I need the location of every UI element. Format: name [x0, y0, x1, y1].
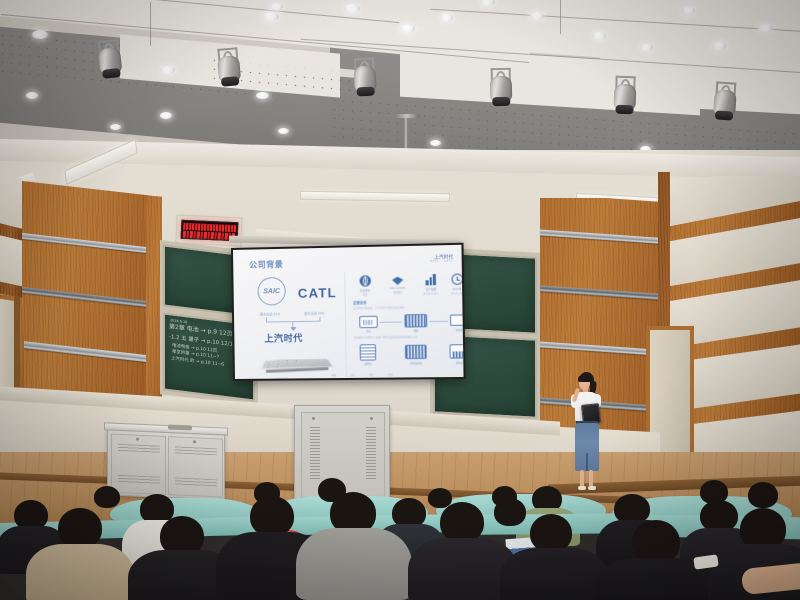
flow-step-label: 系统集成柜 — [404, 361, 428, 365]
station-icon — [449, 344, 463, 359]
flow-note-mid: 为新能源汽车整车厂及客户提供高品质的电池系统解决方案 — [353, 335, 417, 340]
downlight — [758, 24, 773, 32]
downlight — [430, 140, 441, 146]
footer-tag: 研发 — [332, 373, 337, 377]
ceiling — [0, 0, 800, 160]
cabinet-icon — [405, 345, 427, 360]
stage-spotlight[interactable] — [711, 81, 740, 123]
diamond-icon — [392, 277, 403, 285]
downlight — [712, 42, 726, 50]
audience-head — [440, 502, 484, 542]
stage-spotlight[interactable] — [488, 68, 515, 108]
downlight — [110, 124, 121, 130]
flow-step-label: 换电站 — [449, 360, 464, 364]
downlight — [592, 32, 606, 40]
downlight — [26, 92, 38, 99]
logo-saic: SAIC — [257, 277, 286, 306]
flow-step-label: 储能柜 — [358, 361, 379, 365]
product-caption: 电池包 Pack — [275, 376, 288, 378]
joint-venture-sub: SAIC - CATL — [270, 341, 296, 344]
downlight — [640, 44, 653, 51]
downlight — [530, 12, 544, 20]
share-label-catl: 股东出资 49% — [304, 311, 324, 316]
downlight — [160, 66, 175, 74]
audience-head — [494, 498, 526, 526]
cabinet-lock-icon — [136, 438, 139, 441]
flow-step-label: 电池包 — [449, 328, 463, 332]
cabinet-vent — [310, 427, 320, 479]
rack-icon — [360, 344, 377, 360]
audience-head — [530, 514, 572, 552]
presentation-slide: 公司背景 上汽时代 SAIC · CATL SAIC CATL 股东出资 51%… — [233, 245, 464, 379]
cabinet-cutout — [168, 424, 192, 430]
globe-icon — [359, 275, 370, 286]
flow-step-label: 电芯 — [359, 329, 378, 333]
bars-icon — [425, 274, 437, 285]
flow-step-label: 模组 — [405, 328, 428, 332]
slide-divider — [344, 272, 347, 377]
highlight-item: SAIC & CATL 强强联合 — [381, 274, 414, 294]
downlight — [262, 12, 279, 21]
audience-head — [58, 508, 102, 548]
highlight-item: 行业地位 全球 — [351, 275, 378, 297]
highlight-item: 2017年 成立于上海 — [444, 273, 463, 295]
share-label-saic: 股东出资 51% — [260, 311, 280, 316]
projector-screen[interactable]: 公司背景 上汽时代 SAIC · CATL SAIC CATL 股东出资 51%… — [231, 243, 466, 381]
audience-head — [250, 496, 294, 536]
stage-spotlight[interactable] — [214, 47, 243, 89]
presenter[interactable] — [566, 372, 610, 507]
audience-body — [26, 544, 134, 600]
downlight — [270, 3, 283, 10]
flow-section-title: 主营业务 — [353, 300, 367, 305]
cabinet-door[interactable] — [168, 436, 223, 497]
downlight — [682, 7, 695, 14]
cabinet-lock-icon — [370, 417, 373, 420]
ownership-brace — [266, 317, 321, 323]
presenter-hair-front — [578, 375, 592, 382]
clock-icon — [451, 273, 463, 284]
projector-mount-plate — [394, 114, 420, 118]
flow-note-top: 动力电池系统研发、生产制造与销售及售后服务 — [353, 305, 405, 310]
wall-panel-left — [0, 173, 22, 230]
downlight — [278, 128, 289, 134]
audience-body — [296, 528, 412, 600]
audience-head — [94, 486, 120, 508]
logo-saic-label: SAIC — [263, 288, 280, 295]
stage-spotlight[interactable] — [611, 76, 638, 117]
slide-title: 公司背景 — [249, 259, 283, 271]
downlight — [440, 14, 453, 22]
slide-brand-logo-sub: SAIC · CATL — [430, 259, 453, 263]
lecture-hall-photo: 2024.6.18 第2章 电池 → p.9 12页 -1.2 五 量子 → p… — [0, 0, 800, 600]
downlight — [344, 4, 360, 13]
downlight — [400, 24, 415, 33]
audience-body — [500, 548, 608, 600]
flow-connector — [429, 321, 448, 322]
wall-panel-left — [0, 235, 22, 286]
audience-head — [748, 482, 778, 508]
highlight-item: 生产规模 年产能 36GWh — [417, 274, 444, 296]
downlight — [32, 30, 48, 39]
slide-footer-tags: 研发 制造 测试 服务 — [332, 372, 393, 377]
flow-connector — [380, 321, 403, 322]
presenter-skirt — [575, 423, 599, 471]
cabinet-vent — [366, 427, 376, 479]
footer-tag: 制造 — [350, 373, 355, 377]
product-image-battery-pack — [261, 349, 334, 376]
cabinet-door[interactable] — [111, 434, 166, 495]
presenter-leg — [580, 470, 584, 487]
cell-icon — [359, 316, 378, 328]
presenter-shoe — [588, 486, 596, 490]
stage-spotlight[interactable] — [351, 57, 379, 98]
cabinet-lock-icon — [312, 417, 315, 420]
pack-icon — [450, 314, 464, 326]
presenter-leg — [589, 470, 593, 487]
cabinet-body — [107, 429, 225, 500]
presenter-shoe — [578, 486, 586, 490]
downlight — [160, 112, 172, 119]
cabinet-lock-icon — [193, 440, 196, 443]
downlight — [256, 92, 269, 99]
footer-tag: 测试 — [369, 373, 374, 377]
module-icon — [404, 314, 427, 328]
stage-spotlight[interactable] — [95, 39, 125, 81]
footer-tag: 服务 — [388, 372, 393, 376]
logo-catl: CATL — [298, 285, 337, 301]
